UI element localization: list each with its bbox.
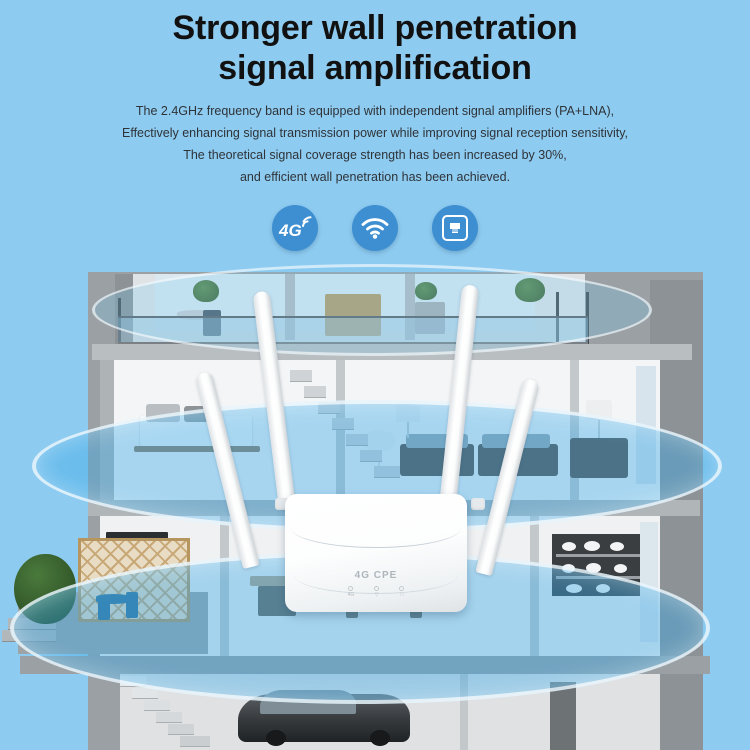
connectivity-badge-row: 4G bbox=[0, 205, 750, 251]
router-top-contour bbox=[291, 508, 461, 548]
dish bbox=[566, 584, 582, 593]
antenna-2 bbox=[252, 291, 295, 509]
wifi-badge bbox=[352, 205, 398, 251]
patio-chair-1 bbox=[98, 598, 110, 620]
4g-signal-icon: 4G bbox=[278, 215, 312, 241]
dish bbox=[586, 563, 601, 573]
led-indicator-dot bbox=[399, 586, 404, 591]
table-lamp-shade-right bbox=[586, 400, 612, 420]
house-cutaway-illustration: 4G CPE 4G ▽ □ bbox=[0, 262, 750, 750]
car-windshield bbox=[260, 690, 356, 714]
floor2-window bbox=[636, 366, 656, 484]
led-indicator-dot bbox=[374, 586, 379, 591]
garden-hedge bbox=[14, 554, 76, 624]
antenna-3 bbox=[439, 284, 479, 507]
led-indicator-dot bbox=[348, 586, 353, 591]
router-device: 4G CPE 4G ▽ □ bbox=[235, 262, 525, 632]
floor2-partition-2 bbox=[570, 360, 579, 500]
marketing-banner: Stronger wall penetration signal amplifi… bbox=[0, 0, 750, 750]
dish bbox=[614, 564, 627, 573]
stair-step bbox=[120, 676, 146, 687]
dish bbox=[610, 542, 624, 551]
dish bbox=[562, 564, 575, 573]
patio-step-2 bbox=[2, 630, 56, 642]
svg-text:4G: 4G bbox=[278, 221, 302, 240]
floor1-partition-1 bbox=[220, 516, 229, 656]
car-wheel-front bbox=[266, 730, 286, 746]
floor1-window bbox=[640, 522, 658, 642]
rj45-port-icon bbox=[441, 214, 469, 242]
feature-description: The 2.4GHz frequency band is equipped wi… bbox=[0, 100, 750, 188]
ethernet-badge bbox=[432, 205, 478, 251]
stair-step bbox=[132, 688, 158, 699]
garage-partition bbox=[460, 674, 468, 750]
floor2-left-wall bbox=[100, 360, 114, 500]
stair-step bbox=[144, 700, 170, 711]
page-title: Stronger wall penetration signal amplifi… bbox=[0, 8, 750, 88]
side-cabinet bbox=[570, 438, 628, 478]
led-wifi: ▽ bbox=[374, 586, 379, 598]
table-lamp-pole-right bbox=[598, 420, 600, 438]
terrace-plant-1 bbox=[193, 280, 219, 302]
garage-doorway bbox=[550, 682, 576, 750]
power-led-icon: □ bbox=[400, 593, 403, 598]
4g-badge: 4G bbox=[272, 205, 318, 251]
stair-step bbox=[168, 724, 194, 735]
body-line-2: Effectively enhancing signal transmissio… bbox=[0, 122, 750, 144]
body-line-3: The theoretical signal coverage strength… bbox=[0, 144, 750, 166]
led-power: □ bbox=[399, 586, 404, 598]
router-brand-label: 4G CPE bbox=[285, 570, 467, 581]
garage-staircase bbox=[120, 674, 230, 750]
router-led-row: 4G ▽ □ bbox=[285, 586, 467, 598]
wifi-icon bbox=[361, 217, 389, 239]
bed-pillow-1 bbox=[146, 404, 180, 422]
wifi-led-icon: ▽ bbox=[375, 593, 379, 598]
dish bbox=[596, 584, 610, 593]
antenna-base-2 bbox=[471, 498, 485, 510]
4g-led-icon: 4G bbox=[348, 593, 355, 598]
shelf-line bbox=[556, 554, 652, 557]
dish bbox=[562, 542, 576, 551]
headline-line-2: signal amplification bbox=[0, 48, 750, 88]
first-floor-slab bbox=[20, 656, 710, 674]
body-line-1: The 2.4GHz frequency band is equipped wi… bbox=[0, 100, 750, 122]
stair-step bbox=[156, 712, 182, 723]
led-4g: 4G bbox=[348, 586, 355, 598]
body-line-4: and efficient wall penetration has been … bbox=[0, 166, 750, 188]
stair-step bbox=[180, 736, 210, 747]
headline-line-1: Stronger wall penetration bbox=[173, 9, 578, 47]
basement-garage bbox=[120, 674, 660, 750]
shelf-line bbox=[556, 576, 652, 579]
dish bbox=[584, 541, 600, 551]
patio-chair-2 bbox=[126, 592, 138, 618]
router-chassis: 4G CPE 4G ▽ □ bbox=[285, 494, 467, 612]
floor1-partition-2 bbox=[530, 516, 539, 656]
car-wheel-rear bbox=[370, 730, 390, 746]
